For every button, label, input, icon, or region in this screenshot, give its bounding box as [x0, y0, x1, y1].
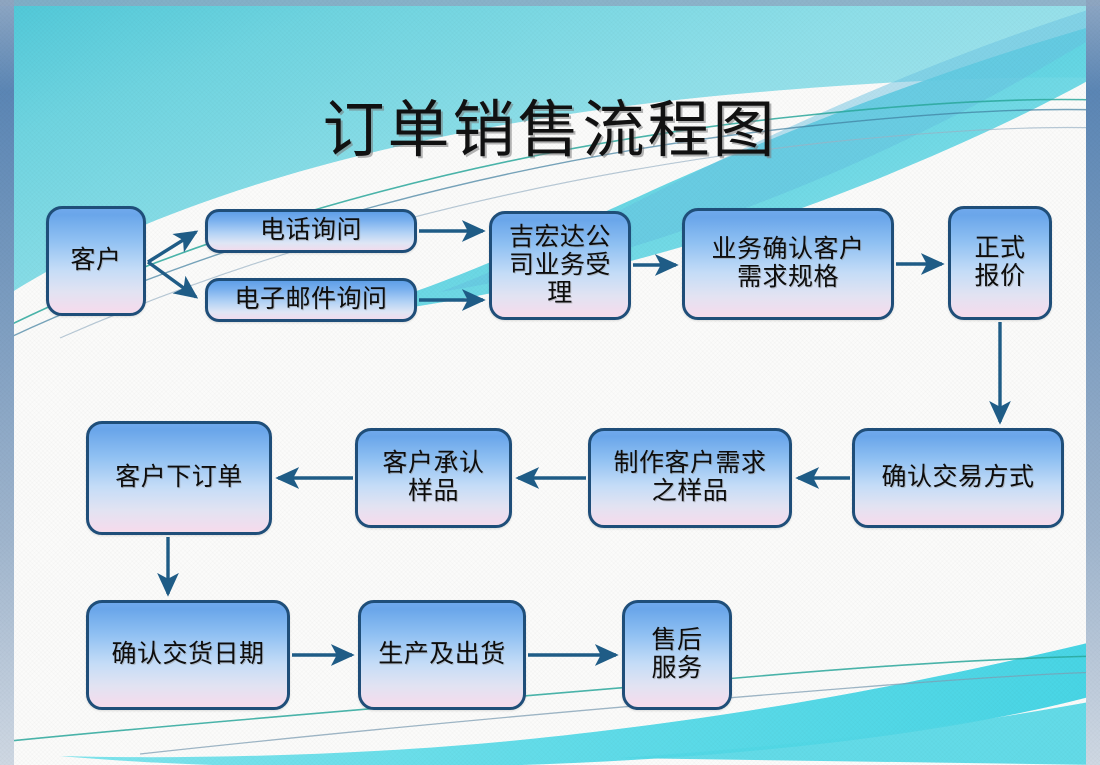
flow-node-produce-ship[interactable]: 生产及出货 [358, 600, 526, 710]
flow-node-place-order[interactable]: 客户下订单 [86, 421, 272, 535]
flow-node-confirm-trade[interactable]: 确认交易方式 [852, 428, 1064, 528]
flow-node-label: 业务确认客户 需求规格 [705, 236, 870, 292]
connector-customer-to-email [148, 262, 196, 297]
slide-canvas: 订单销售流程图 [0, 0, 1100, 765]
flow-node-phone-inquiry[interactable]: 电话询问 [205, 209, 417, 253]
flow-node-label: 售后 服务 [645, 627, 708, 683]
flow-node-label: 电话询问 [254, 217, 368, 245]
flow-node-label: 生产及出货 [372, 641, 512, 669]
flow-node-after-service[interactable]: 售后 服务 [622, 600, 732, 710]
flow-node-confirm-date[interactable]: 确认交货日期 [86, 600, 290, 710]
flow-node-label: 确认交易方式 [875, 464, 1040, 492]
connector-customer-to-phone [148, 232, 196, 262]
flow-node-email-inquiry[interactable]: 电子邮件询问 [205, 278, 417, 322]
flow-node-label: 电子邮件询问 [228, 286, 393, 314]
flow-node-label: 确认交货日期 [105, 641, 270, 669]
flow-node-approve-sample[interactable]: 客户承认 样品 [355, 428, 512, 528]
flow-node-label: 客户承认 样品 [376, 450, 490, 506]
flow-node-label: 吉宏达公 司业务受 理 [503, 224, 617, 308]
flow-node-label: 正式 报价 [968, 235, 1031, 291]
flow-node-customer[interactable]: 客户 [46, 206, 146, 316]
flow-node-formal-quote[interactable]: 正式 报价 [948, 206, 1052, 320]
flow-node-label: 客户下订单 [109, 464, 249, 492]
flow-node-jhd-accept[interactable]: 吉宏达公 司业务受 理 [489, 211, 631, 320]
page-title: 订单销售流程图 [0, 96, 1100, 167]
flow-node-confirm-spec[interactable]: 业务确认客户 需求规格 [682, 208, 894, 320]
flow-node-make-sample[interactable]: 制作客户需求 之样品 [588, 428, 792, 528]
flow-node-label: 制作客户需求 之样品 [607, 450, 772, 506]
flow-node-label: 客户 [64, 247, 127, 275]
